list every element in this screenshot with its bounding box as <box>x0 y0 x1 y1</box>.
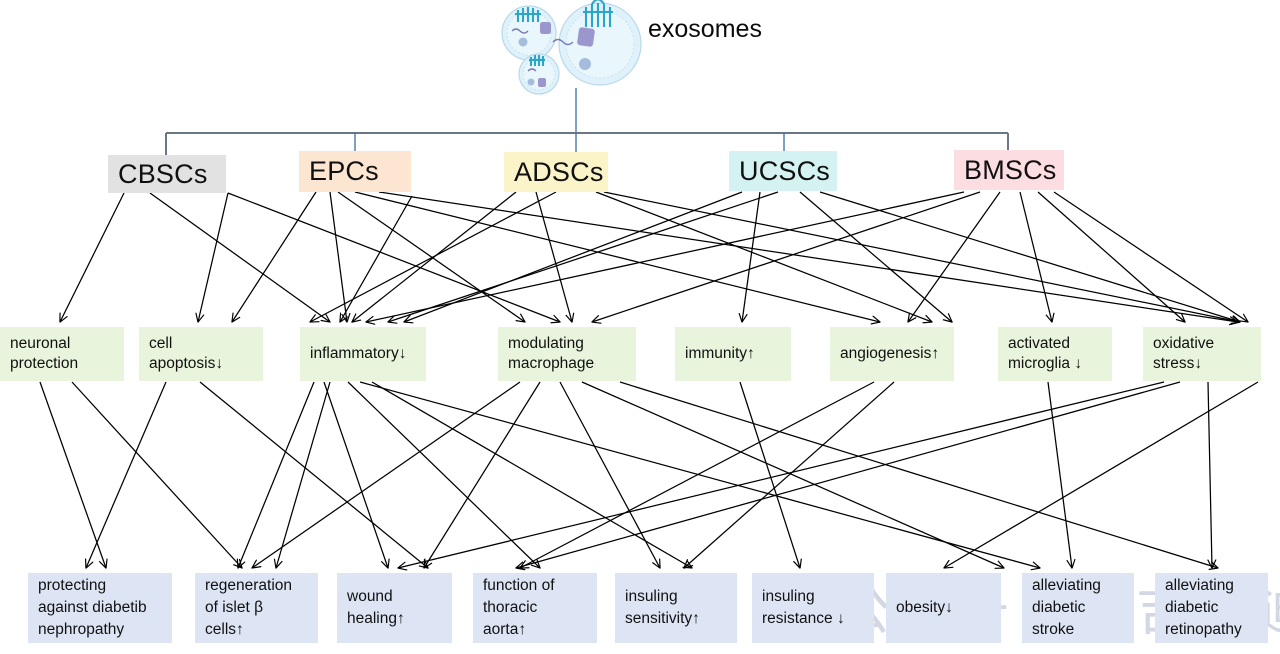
node-oxidative[interactable]: oxidativestress↓ <box>1143 327 1261 381</box>
node-label-line: wound <box>347 587 442 607</box>
node-label-line: protection <box>10 354 114 374</box>
node-label-line: healing↑ <box>347 609 442 629</box>
node-label-line: activated <box>1008 334 1102 354</box>
node-microglia[interactable]: activatedmicroglia ↓ <box>998 327 1112 381</box>
node-label-line: against diabetib <box>38 598 162 618</box>
node-label-line: sensitivity↑ <box>625 609 727 629</box>
node-nephropathy[interactable]: protectingagainst diabetibnephropathy <box>28 573 172 643</box>
node-label: CBSCs <box>118 157 216 192</box>
node-label-line: retinopathy <box>1165 620 1258 640</box>
node-epcs[interactable]: EPCs <box>299 151 411 192</box>
node-label-line: function of <box>483 576 587 596</box>
node-stroke[interactable]: alleviatingdiabeticstroke <box>1022 573 1134 643</box>
node-neuronal[interactable]: neuronalprotection <box>0 327 124 381</box>
node-label-line: obesity↓ <box>896 598 991 618</box>
node-label: BMSCs <box>964 153 1054 188</box>
node-label-line: oxidative <box>1153 334 1251 354</box>
node-retinopathy[interactable]: alleviatingdiabeticretinopathy <box>1155 573 1268 643</box>
node-label-line: insuling <box>625 587 727 607</box>
node-label-line: stroke <box>1032 620 1124 640</box>
exosomes-label: exosomes <box>648 15 762 44</box>
node-resistance[interactable]: insulingresistance ↓ <box>752 573 874 643</box>
node-label-line: diabetic <box>1032 598 1124 618</box>
node-label-line: of islet β <box>205 598 308 618</box>
node-label-line: resistance ↓ <box>762 609 864 629</box>
node-adscs[interactable]: ADSCs <box>504 152 608 192</box>
node-label-line: microglia ↓ <box>1008 354 1102 374</box>
node-label-line: alleviating <box>1032 576 1124 596</box>
node-label-line: stress↓ <box>1153 354 1251 374</box>
diagram-canvas: 公众号：杭吉泰迪干细胞 <box>0 0 1280 654</box>
node-immunity[interactable]: immunity↑ <box>675 327 791 381</box>
node-ucscs[interactable]: UCSCs <box>729 151 837 191</box>
node-label-line: regeneration <box>205 576 308 596</box>
node-label-line: cells↑ <box>205 620 308 640</box>
node-label-line: alleviating <box>1165 576 1258 596</box>
node-label-line: macrophage <box>508 354 626 374</box>
node-label-line: apoptosis↓ <box>149 354 253 374</box>
node-label-line: diabetic <box>1165 598 1258 618</box>
node-label-line: thoracic <box>483 598 587 618</box>
node-label: UCSCs <box>739 154 827 189</box>
node-label: ADSCs <box>514 155 598 190</box>
node-label-line: immunity↑ <box>685 344 781 364</box>
node-label-line: inflammatory↓ <box>310 344 416 364</box>
node-bmscs[interactable]: BMSCs <box>954 150 1064 190</box>
node-label-line: aorta↑ <box>483 620 587 640</box>
node-obesity[interactable]: obesity↓ <box>886 573 1001 643</box>
node-label-line: cell <box>149 334 253 354</box>
node-aorta[interactable]: function ofthoracicaorta↑ <box>473 573 597 643</box>
node-label-line: nephropathy <box>38 620 162 640</box>
node-label-line: modulating <box>508 334 626 354</box>
node-islet[interactable]: regenerationof islet βcells↑ <box>195 573 318 643</box>
node-cbscs[interactable]: CBSCs <box>108 155 226 193</box>
node-label-line: protecting <box>38 576 162 596</box>
node-sensitivity[interactable]: insulingsensitivity↑ <box>615 573 737 643</box>
node-wound[interactable]: woundhealing↑ <box>337 573 452 643</box>
node-label-line: angiogenesis↑ <box>840 344 944 364</box>
node-angiogenesis[interactable]: angiogenesis↑ <box>830 327 954 381</box>
node-label-line: neuronal <box>10 334 114 354</box>
node-macrophage[interactable]: modulatingmacrophage <box>498 327 636 381</box>
node-label-line: insuling <box>762 587 864 607</box>
node-apoptosis[interactable]: cellapoptosis↓ <box>139 327 263 381</box>
node-label: EPCs <box>309 154 401 189</box>
node-inflammatory[interactable]: inflammatory↓ <box>300 327 426 381</box>
